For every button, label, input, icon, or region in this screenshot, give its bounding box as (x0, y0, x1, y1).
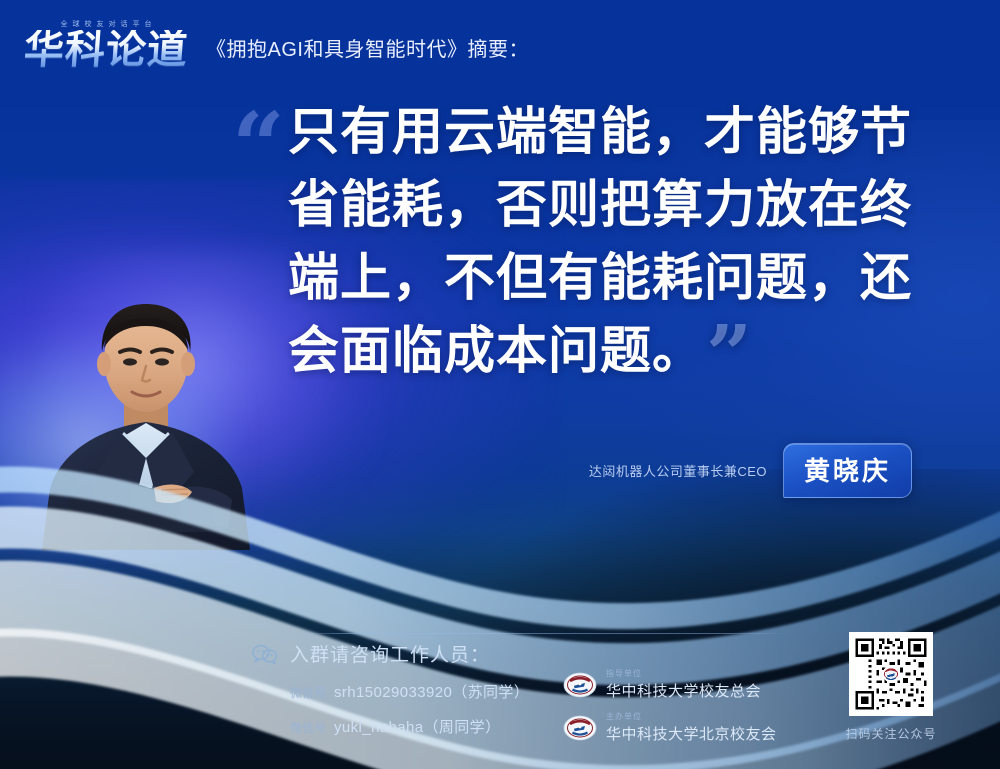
organizations-section: 指导单位 华中科技大学校友总会 主办单位 华中科技大学北京校友会 (563, 668, 777, 754)
contact-value: srh15029033920（苏同学） (334, 681, 529, 702)
contact-value: yuki_hahaha（周同学） (334, 716, 500, 737)
wechat-icon (252, 644, 278, 664)
quote-line: 会面临成本问题。 (288, 315, 704, 388)
quote-line: 省能耗，否则把算力放在终 (288, 169, 952, 242)
contact-row: 微信号 srh15029033920（苏同学） (252, 681, 592, 702)
page-title: 《拥抱AGI和具身智能时代》摘要： (206, 33, 529, 62)
contact-label: 微信号 (290, 719, 326, 736)
logo-wordmark: 华科论道 (23, 30, 190, 70)
poster-header: 全球校友对话平台 华科论道 《拥抱AGI和具身智能时代》摘要： (0, 0, 1000, 88)
organization-row: 指导单位 华中科技大学校友总会 (563, 668, 777, 701)
speaker-name-badge: 黄晓庆 (783, 443, 912, 498)
qr-caption: 扫码关注公众号 (845, 725, 937, 742)
organization-name: 华中科技大学北京校友会 (606, 723, 777, 744)
speaker-attribution: 达闼机器人公司董事长兼CEO 黄晓庆 (589, 443, 912, 498)
speaker-portrait (28, 282, 264, 550)
footer-contact-section: 入群请咨询工作人员： 微信号 srh15029033920（苏同学） 微信号 y… (252, 640, 592, 737)
footer-heading-row: 入群请咨询工作人员： (252, 640, 592, 667)
organization-text: 主办单位 华中科技大学北京校友会 (606, 711, 777, 744)
university-seal-icon (563, 672, 597, 698)
organization-name: 华中科技大学校友总会 (606, 680, 761, 701)
quote-block: “ 只有用云端智能，才能够节 省能耗，否则把算力放在终 端上，不但有能耗问题，还… (232, 96, 952, 388)
brand-logo: 全球校友对话平台 华科论道 (24, 19, 188, 70)
university-seal-icon (563, 715, 597, 741)
qr-section: 扫码关注公众号 (845, 632, 937, 742)
speaker-title: 达闼机器人公司董事长兼CEO (589, 461, 767, 480)
contact-label: 微信号 (290, 684, 326, 701)
quote-lines: 只有用云端智能，才能够节 省能耗，否则把算力放在终 端上，不但有能耗问题，还 会… (232, 96, 952, 388)
organization-kind: 指导单位 (606, 668, 761, 679)
organization-text: 指导单位 华中科技大学校友总会 (606, 668, 761, 701)
poster-canvas: 全球校友对话平台 华科论道 《拥抱AGI和具身智能时代》摘要： “ 只有用云端智… (0, 0, 1000, 769)
footer-heading: 入群请咨询工作人员： (290, 640, 490, 667)
footer-divider (288, 633, 786, 634)
quote-line: 只有用云端智能，才能够节 (288, 96, 952, 169)
qr-code[interactable] (849, 632, 933, 716)
organization-row: 主办单位 华中科技大学北京校友会 (563, 711, 777, 744)
contact-row: 微信号 yuki_hahaha（周同学） (252, 716, 592, 737)
quote-line: 端上，不但有能耗问题，还 (288, 242, 952, 315)
organization-kind: 主办单位 (606, 711, 777, 722)
